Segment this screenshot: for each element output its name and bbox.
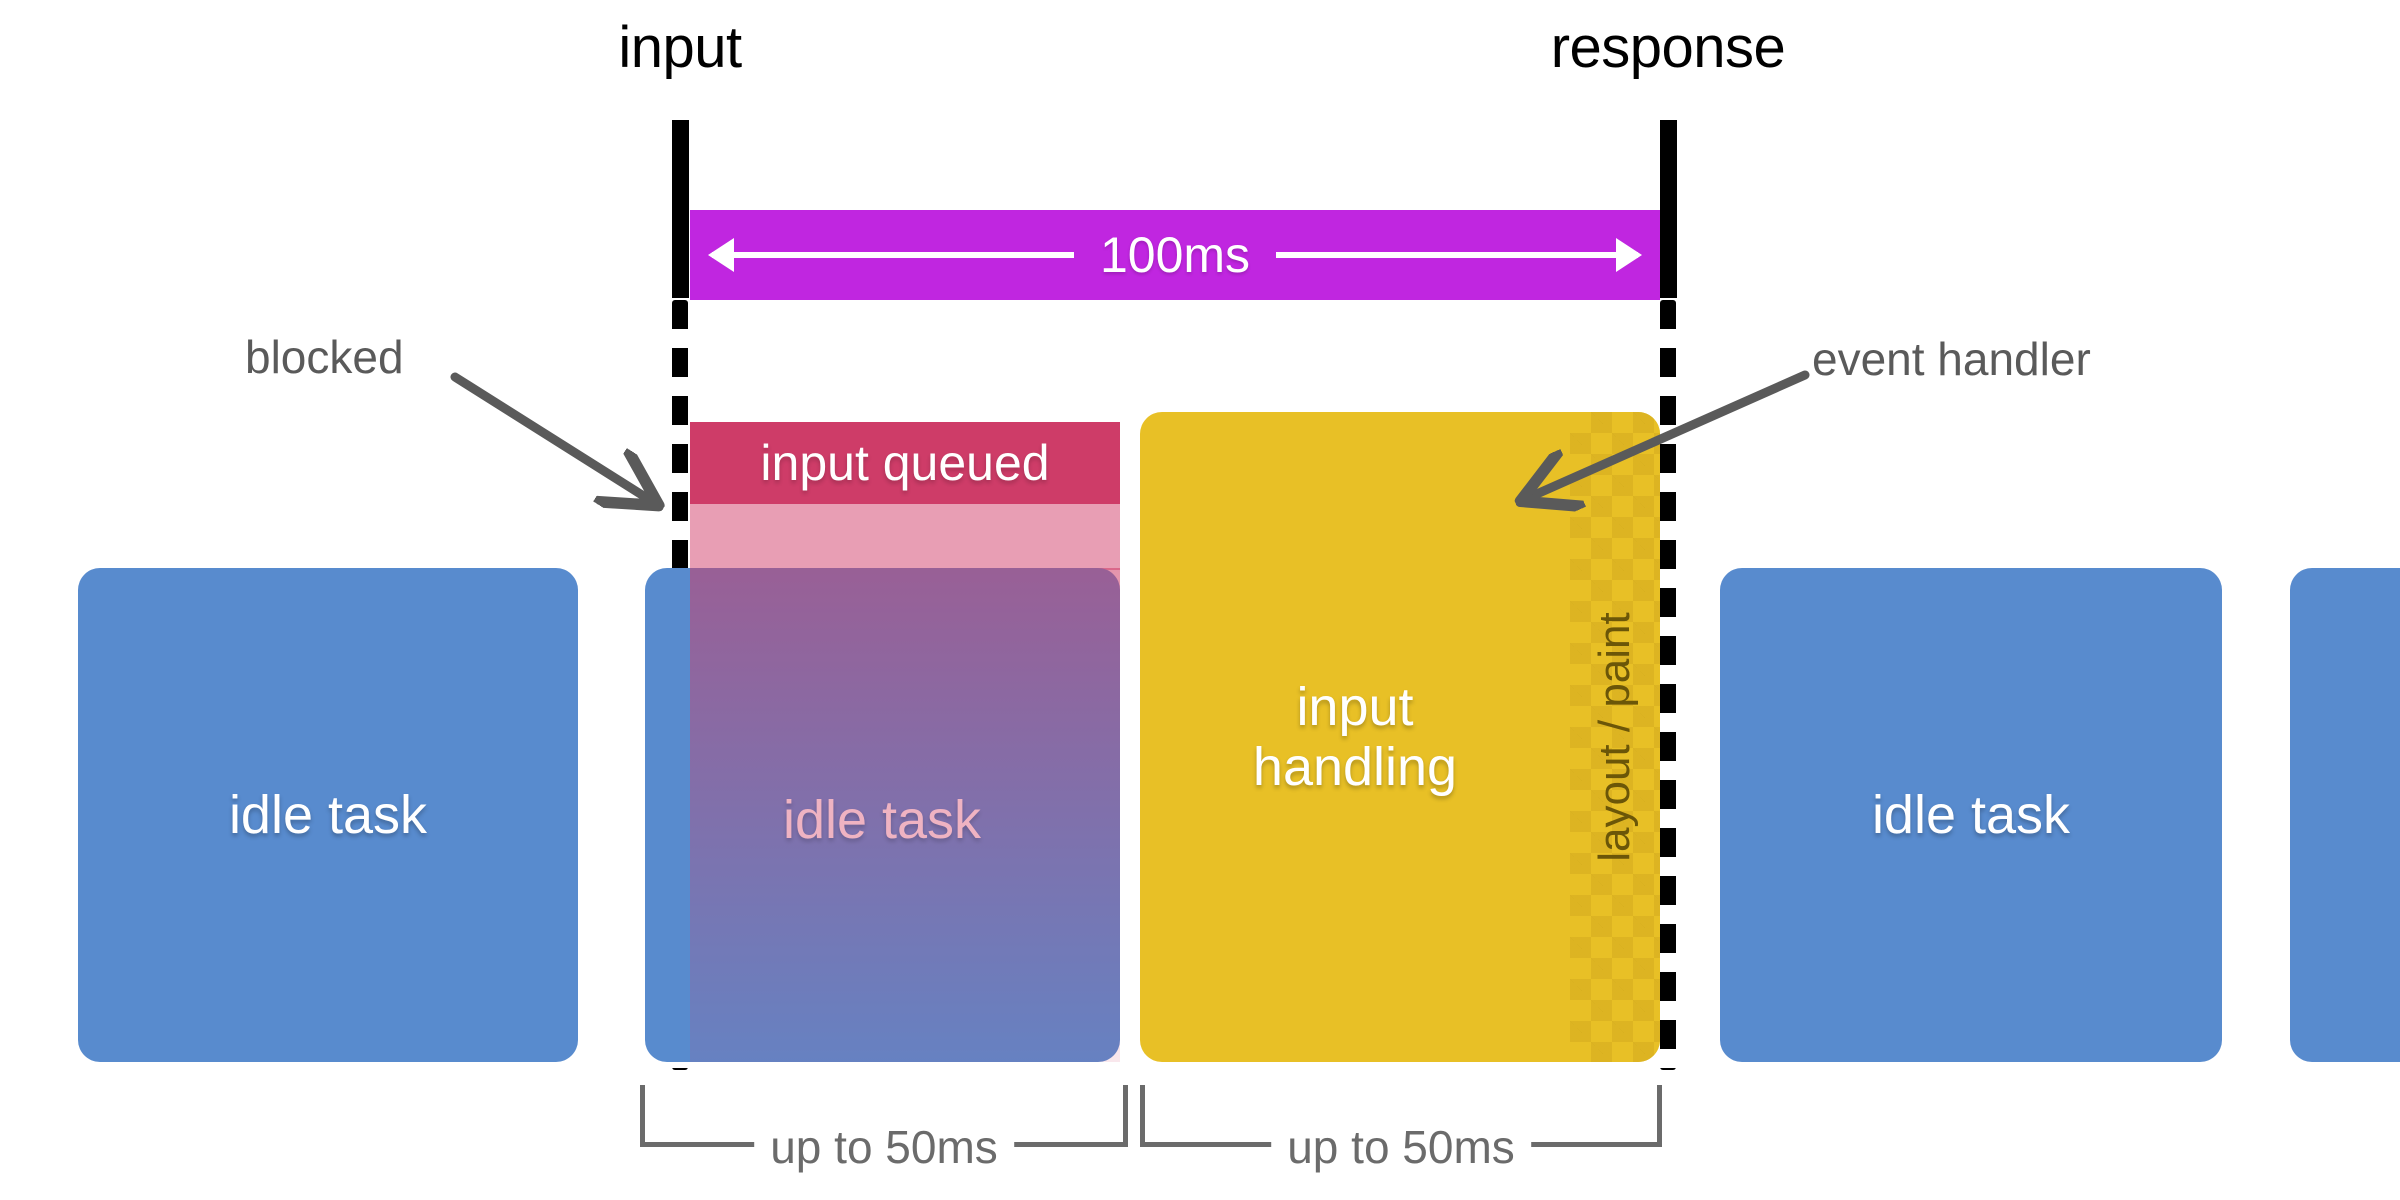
marker-bar-response <box>1660 120 1677 298</box>
arrow-blocked-icon <box>455 377 650 500</box>
marker-bar-input <box>672 120 689 298</box>
marker-label-input: input <box>618 14 741 81</box>
layout-paint-label: layout / paint <box>1590 612 1640 862</box>
arrow-right-icon <box>1616 238 1642 272</box>
arrow-left-icon <box>708 238 734 272</box>
marker-dashed-line-response <box>1660 300 1676 1070</box>
budget-duration-label: 100ms <box>1074 226 1276 284</box>
task-label-idle-2: idle task <box>783 789 981 851</box>
input-handling-label-wrap: input handling <box>1140 412 1570 1062</box>
annotation-label-blocked: blocked <box>245 330 404 384</box>
annotation-label-event-handler: event handler <box>1812 332 2091 386</box>
input-queued-fade-block <box>690 504 1120 570</box>
bracket-right-label: up to 50ms <box>1271 1120 1531 1174</box>
task-label-idle-3: idle task <box>1872 785 2070 845</box>
task-label-idle-1: idle task <box>229 785 427 845</box>
task-block-idle-3: idle task <box>1720 568 2222 1062</box>
task-label-input-handling-line1: input <box>1296 677 1413 737</box>
input-queued-block: input queued <box>690 422 1120 504</box>
input-queued-label: input queued <box>760 434 1049 492</box>
task-block-input-handling: input handling <box>1140 412 1660 1062</box>
bracket-left-label: up to 50ms <box>754 1120 1014 1174</box>
diagram-canvas: input response 100ms input queued idle t… <box>0 0 2400 1200</box>
task-block-idle-4 <box>2290 568 2400 1062</box>
task-label-input-handling-line2: handling <box>1253 737 1457 797</box>
marker-label-response: response <box>1551 14 1786 81</box>
task-block-idle-1: idle task <box>78 568 578 1062</box>
response-budget-bar: 100ms <box>690 210 1660 300</box>
